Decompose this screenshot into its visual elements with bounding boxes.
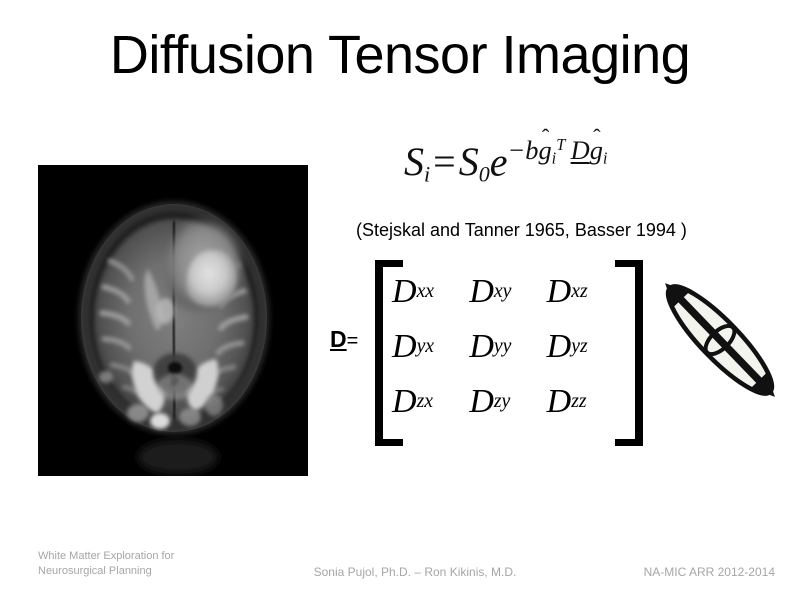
equation-exponent: −bˆgiT Dˆgi xyxy=(507,135,607,165)
matrix-cell: Dxx xyxy=(392,264,469,319)
tensor-equals: = xyxy=(347,330,359,352)
matrix-cell: Dyy xyxy=(469,319,546,374)
diffusion-tensor-matrix: D= Dxx Dxy Dxz Dyx Dyy Dyz Dzx Dzy Dzz xyxy=(330,258,650,438)
equation-exp-base: e xyxy=(490,139,508,184)
tensor-symbol: D xyxy=(330,326,347,352)
matrix-cell: Dyx xyxy=(392,319,469,374)
matrix-cell: Dxy xyxy=(469,264,546,319)
hat-accent-2: ˆ xyxy=(593,126,600,148)
footer-authors: Sonia Pujol, Ph.D. – Ron Kikinis, M.D. xyxy=(265,564,565,580)
diffusion-ellipsoid-figure xyxy=(655,270,785,410)
page-title: Diffusion Tensor Imaging xyxy=(0,24,800,86)
matrix-cell: Dzz xyxy=(547,374,624,429)
matrix-grid: Dxx Dxy Dxz Dyx Dyy Dyz Dzx Dzy Dzz xyxy=(392,264,624,429)
brain-mri-image xyxy=(38,165,308,476)
equation-baseline: S0 xyxy=(459,139,490,184)
footer-event: NA-MIC ARR 2012-2014 xyxy=(560,564,775,580)
tensor-label: D= xyxy=(330,328,358,351)
equation-citation: (Stejskal and Tanner 1965, Basser 1994 ) xyxy=(356,218,756,242)
footer-project-line2: Neurosurgical Planning xyxy=(38,564,268,579)
equation-equals: = xyxy=(430,139,459,184)
footer-project-line1: White Matter Exploration for xyxy=(38,549,268,564)
matrix-cell: Dxz xyxy=(547,264,624,319)
slide-canvas: Diffusion Tensor Imaging xyxy=(0,0,800,600)
hat-accent-1: ˆ xyxy=(542,126,549,148)
matrix-cell: Dzx xyxy=(392,374,469,429)
matrix-cell: Dyz xyxy=(547,319,624,374)
equation-signal: Si xyxy=(404,139,430,184)
principal-axis-arrow xyxy=(657,276,783,405)
footer-project-label: White Matter Exploration for Neurosurgic… xyxy=(38,549,268,579)
matrix-cell: Dzy xyxy=(469,374,546,429)
diffusion-ellipsoid-svg xyxy=(655,270,785,410)
signal-equation: Si=S0e−bˆgiT Dˆgi xyxy=(404,137,754,199)
brain-mri-svg xyxy=(38,165,308,476)
